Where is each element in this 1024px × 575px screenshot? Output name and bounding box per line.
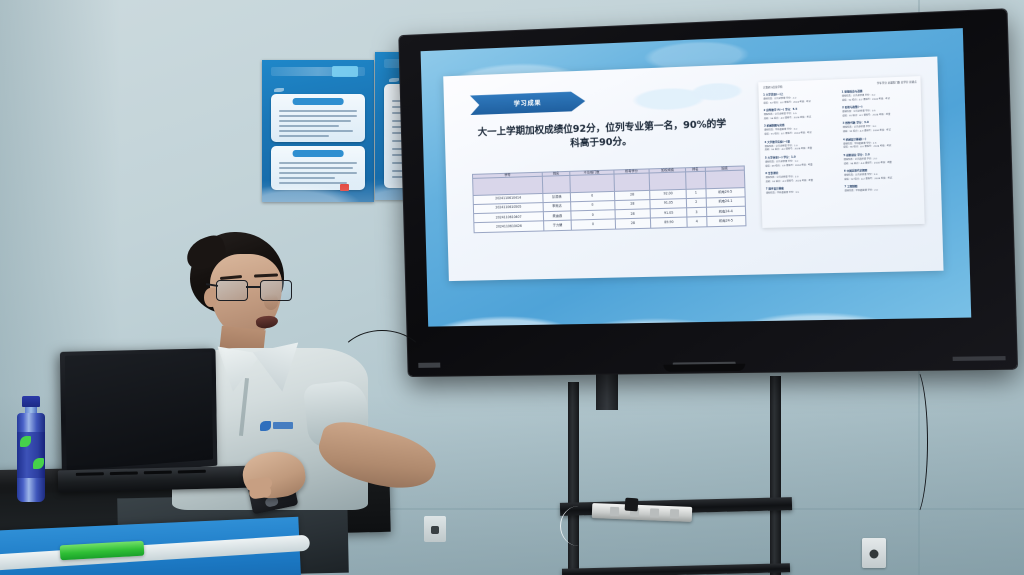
course-entry: 2 高等数学 A(一) 学分：5.5 课程性质：公共必修课 学分：5.5 成绩：… bbox=[764, 106, 839, 122]
course-entry: 5 大学体育(一) 学分：1.0 课程性质：公共必修课 学分：1.0 成绩：89… bbox=[765, 153, 840, 168]
wave-graphic bbox=[262, 180, 374, 202]
score-table-body: 2024110610414 彭漳浩 0 28 92.00 1 机电24-5 20 bbox=[473, 170, 746, 232]
outlet-hole bbox=[870, 549, 879, 558]
laptop-vent bbox=[110, 471, 138, 475]
power-strip-white-cord bbox=[560, 506, 597, 546]
shirt-logo bbox=[260, 420, 294, 432]
wall-poster-1 bbox=[262, 60, 374, 202]
course-entry: 3 机械制图与实践 课程性质：学科基础课 学分：3.0 成绩：91 绩点：4.1… bbox=[764, 121, 839, 137]
poster-card-title bbox=[293, 150, 344, 157]
transcript-column-2: 1 思想政治与道德 课程性质：公共必修课 学分：3.0 成绩：92 绩点：4.2… bbox=[842, 87, 921, 223]
cell-rank: 4 bbox=[687, 217, 707, 227]
transcript-school: 计算机与信息学院 bbox=[763, 85, 783, 90]
mouth bbox=[255, 315, 278, 329]
eyeglasses bbox=[216, 280, 290, 300]
tv-stand-left-column bbox=[568, 382, 579, 575]
fish-icon bbox=[389, 78, 399, 82]
power-strip-socket[interactable] bbox=[610, 507, 619, 516]
display-ir-receiver bbox=[663, 364, 745, 372]
cell-rank: 1 bbox=[686, 188, 706, 198]
plug-cord bbox=[631, 474, 654, 502]
course-entry: 7 工程制图 课程性质：学科基础课 学分：2.0 bbox=[844, 182, 920, 193]
logo-wordmark bbox=[273, 422, 293, 429]
transcript-panel: 计算机与信息学院 学年学分 总课程门数 总学分 总绩点 1 大学英语(一)上 课… bbox=[759, 76, 926, 227]
cell-name: 于力耀 bbox=[544, 221, 571, 231]
poster-badge bbox=[332, 66, 358, 77]
display-bottom-bezel bbox=[407, 322, 1016, 376]
cell-class: 机电24-5 bbox=[706, 216, 745, 227]
course-entry: 1 大学英语(一)上 课程性质：公共必修课 学分：2.0 成绩：92 绩点：4.… bbox=[763, 90, 838, 106]
bottle-cap[interactable] bbox=[22, 396, 40, 407]
laptop-vent bbox=[76, 472, 104, 476]
outlet-hole bbox=[431, 526, 439, 534]
lens-left bbox=[216, 280, 248, 301]
classroom-presentation-scene: 学习成果 大一上学期加权成绩位92分，位列专业第一名，90%的学 科高于90分。… bbox=[0, 0, 1024, 575]
course-entry: 2 形势与政策(一) 课程性质：公共必修课 学分：0.5 成绩：91 绩点：4.… bbox=[842, 103, 918, 119]
score-table: 学号 姓名 不及格门数 所考学分 加权成绩 排名 班级 bbox=[472, 165, 746, 233]
transcript-column-1: 1 大学英语(一)上 课程性质：公共必修课 学分：2.0 成绩：92 绩点：4.… bbox=[763, 90, 841, 225]
slide-content-card: 学习成果 大一上学期加权成绩位92分，位列专业第一名，90%的学 科高于90分。… bbox=[443, 56, 943, 280]
glasses-bridge bbox=[246, 286, 260, 288]
course-entry: 4 大学数学实验(一)课 课程性质：公共必修课 学分：1.0 成绩：90 绩点：… bbox=[764, 137, 839, 152]
display-screen[interactable]: 学习成果 大一上学期加权成绩位92分，位列专业第一名，90%的学 科高于90分。… bbox=[420, 28, 971, 327]
course-entry: 6 军事理论 课程性质：公共必修课 学分：2.0 成绩：93 绩点：4.3 课程… bbox=[765, 169, 840, 184]
wall-outlet-left[interactable] bbox=[424, 516, 446, 542]
flat-panel-display[interactable]: 学习成果 大一上学期加权成绩位92分，位列专业第一名，90%的学 科高于90分。… bbox=[404, 36, 984, 376]
nose bbox=[264, 294, 278, 310]
cell-score: 89.90 bbox=[651, 217, 687, 227]
tv-stand-right-column bbox=[770, 376, 781, 575]
wall-outlet-right[interactable] bbox=[862, 538, 886, 568]
power-strip-socket[interactable] bbox=[670, 509, 679, 518]
course-entry: 7 程序设计基础 课程性质：学科基础课 学分：3.5 bbox=[766, 185, 840, 196]
transcript-columns: 1 大学英语(一)上 课程性质：公共必修课 学分：2.0 成绩：92 绩点：4.… bbox=[763, 87, 921, 225]
slide-title-ribbon: 学习成果 bbox=[470, 91, 586, 115]
slide-title-text: 学习成果 bbox=[514, 98, 542, 108]
laptop-lid[interactable] bbox=[60, 348, 217, 478]
course-entry: 5 创新创业 学分：2.0 课程性质：公共选修课 学分：2.0 成绩：94 绩点… bbox=[843, 150, 919, 166]
cell-student-id: 2024110610426 bbox=[474, 221, 544, 232]
poster-card-top bbox=[271, 94, 365, 142]
course-entry: 3 线性代数 学分：3.0 课程性质：公共必修课 学分：3.0 成绩：93 绩点… bbox=[842, 119, 918, 135]
laptop-lid-back bbox=[65, 352, 213, 471]
cell-fail-count: 0 bbox=[571, 219, 615, 230]
power-strip-socket[interactable] bbox=[650, 508, 659, 517]
display-model-mark bbox=[953, 356, 1006, 361]
laptop-vent bbox=[178, 470, 206, 474]
logo-mark-icon bbox=[260, 421, 271, 431]
display-bezel: 学习成果 大一上学期加权成绩位92分，位列专业第一名，90%的学 科高于90分。… bbox=[399, 9, 1017, 376]
transcript-summary: 学年学分 总课程门数 总学分 总绩点 bbox=[877, 79, 917, 85]
fish-icon bbox=[274, 88, 284, 92]
course-entry: 6 中国近现代史纲要 课程性质：公共必修课 学分：3.0 成绩：92 绩点：4.… bbox=[844, 166, 920, 181]
cell-rank: 2 bbox=[686, 198, 706, 208]
cell-credits: 28 bbox=[615, 218, 651, 228]
slide-body-text: 大一上学期加权成绩位92分，位列专业第一名，90%的学 科高于90分。 bbox=[473, 117, 731, 155]
presentation-slide: 学习成果 大一上学期加权成绩位92分，位列专业第一名，90%的学 科高于90分。… bbox=[420, 28, 971, 327]
laptop-vent bbox=[144, 471, 172, 475]
tv-stand-neck bbox=[596, 372, 618, 410]
water-bottle[interactable] bbox=[16, 396, 46, 502]
cell-rank: 3 bbox=[687, 207, 707, 217]
display-power-cable bbox=[900, 366, 928, 518]
course-meta: 课程性质：学科基础课 学分：3.5 bbox=[766, 190, 840, 195]
course-entry: 1 思想政治与道德 课程性质：公共必修课 学分：3.0 成绩：92 绩点：4.2… bbox=[842, 87, 918, 103]
finger bbox=[249, 485, 272, 500]
course-entry: 4 机械设计基础(一) 课程性质：学科基础课 学分：2.5 成绩：90 绩点：4… bbox=[843, 135, 919, 151]
poster-card-title bbox=[293, 98, 344, 105]
